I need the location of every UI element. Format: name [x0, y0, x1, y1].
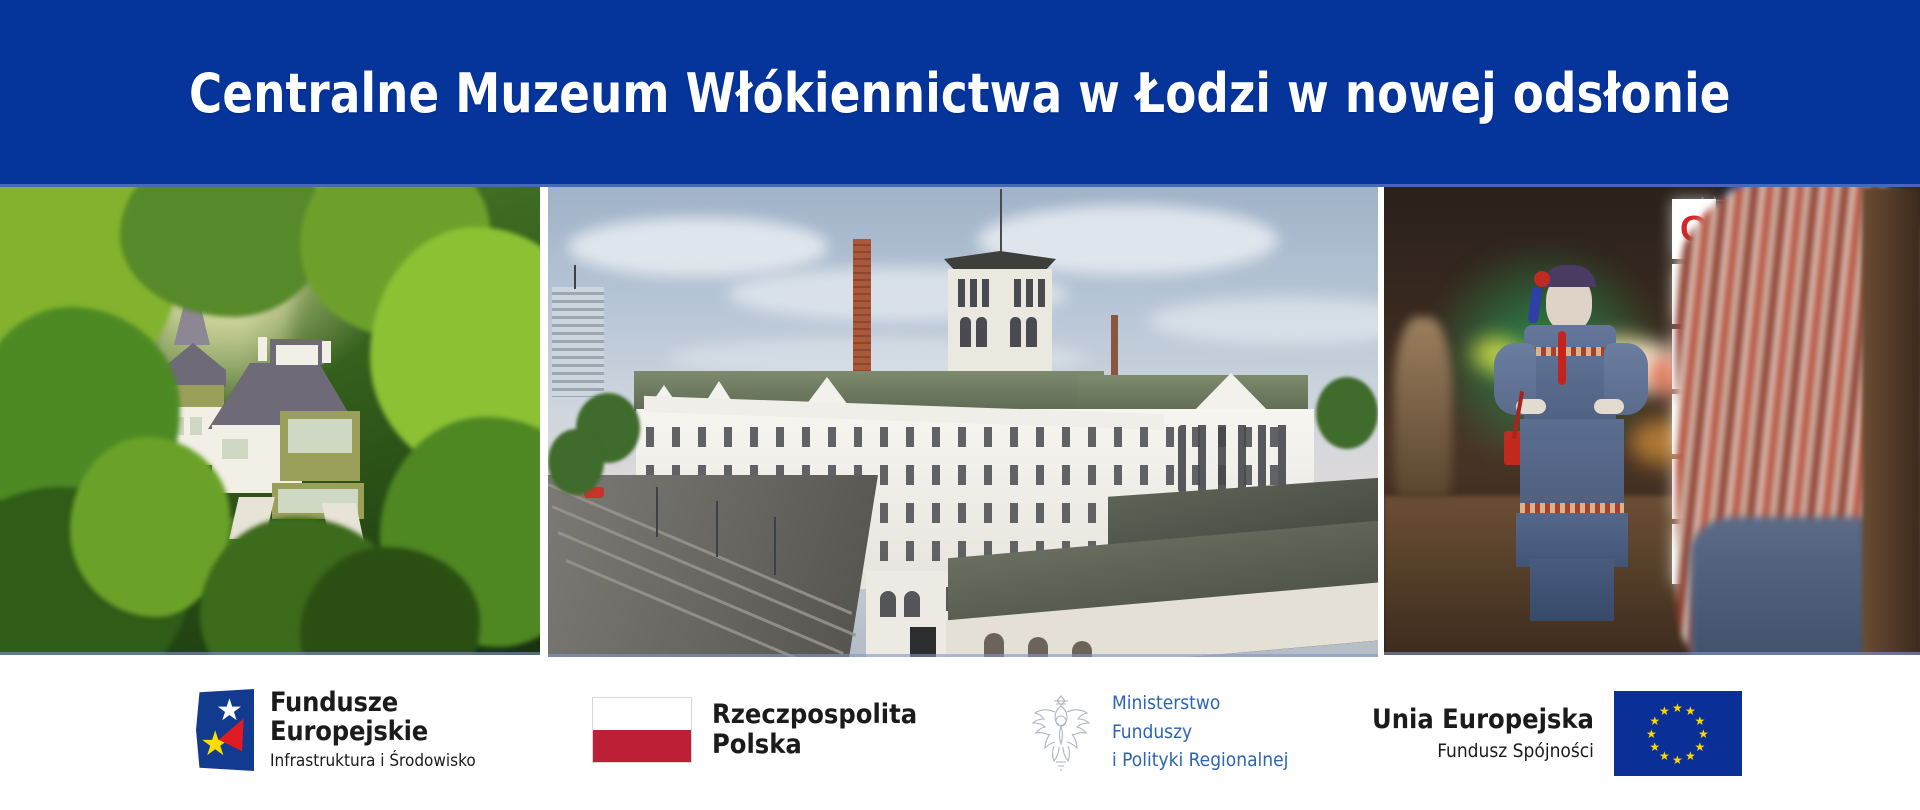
eu-star-icon: ★	[1659, 750, 1670, 762]
factory-roof-right	[1078, 375, 1308, 413]
background-mannequin	[1394, 317, 1452, 497]
polish-flag-icon	[592, 697, 692, 763]
logo-line-1: Fundusze	[270, 689, 476, 718]
logo-line-2: Europejskie	[270, 718, 476, 747]
tower-window	[960, 317, 971, 347]
annex-window	[880, 591, 896, 617]
logo-line-2: Polska	[712, 730, 917, 760]
villa-dormer	[276, 345, 318, 365]
fundusze-europejskie-text: Fundusze Europejskie Infrastruktura i Śr…	[270, 689, 476, 770]
tower-mast	[1000, 189, 1002, 253]
eu-star-icon: ★	[1672, 702, 1683, 714]
cloud	[568, 217, 828, 277]
wooden-pillar	[1862, 187, 1920, 655]
unia-europejska-text: Unia Europejska Fundusz Spójności	[1372, 705, 1594, 762]
banner-page: Centralne Muzeum Włókiennictwa w Łodzi w…	[0, 0, 1920, 810]
logo-line-1: Unia Europejska	[1372, 705, 1594, 735]
tower-window	[970, 279, 977, 307]
street-lamp	[774, 517, 776, 575]
logo-ministerstwo-funduszy: Ministerstwo Funduszy i Polityki Regiona…	[1026, 689, 1288, 775]
tower-window	[1010, 317, 1021, 347]
photo-edge	[548, 654, 1378, 657]
logo-unia-europejska: Unia Europejska Fundusz Spójności ★★★★★★…	[1372, 691, 1742, 776]
logo-line-1: Ministerstwo	[1112, 689, 1288, 718]
villa-veranda-glass	[288, 419, 352, 453]
flag-white-band	[593, 698, 691, 730]
tower-window	[1026, 317, 1037, 347]
necklace	[1558, 331, 1566, 385]
banner-header: Centralne Muzeum Włókiennictwa w Łodzi w…	[0, 0, 1920, 187]
flower-accessory	[1534, 271, 1550, 287]
tower-window	[958, 279, 965, 307]
eu-star-icon: ★	[1694, 715, 1705, 727]
annex-window	[904, 591, 920, 617]
photo-exhibition-mannequins: O D Z I E Ż	[1384, 187, 1920, 655]
headband	[1542, 265, 1596, 287]
villa-window	[222, 439, 248, 459]
skirt-trim	[1520, 503, 1624, 513]
ministerstwo-text: Ministerstwo Funduszy i Polityki Regiona…	[1112, 689, 1288, 775]
tower-window	[982, 279, 989, 307]
arcade-windows	[1178, 425, 1298, 493]
logo-rzeczpospolita-polska: Rzeczpospolita Polska	[592, 697, 917, 763]
antenna	[574, 265, 576, 289]
factory-chimney-far	[1111, 315, 1118, 377]
photo-edge	[1384, 652, 1920, 655]
street	[548, 475, 878, 657]
underskirt	[1530, 559, 1614, 621]
photo-edge	[0, 652, 540, 655]
ribbon	[1528, 286, 1543, 323]
eu-flag-icon: ★★★★★★★★★★★★	[1614, 691, 1742, 776]
tower-window	[976, 317, 987, 347]
tower-window	[1014, 279, 1021, 307]
flag-red-band	[593, 730, 691, 762]
photo-white-factory-museum	[548, 187, 1378, 657]
eu-star-icon: ★	[1649, 741, 1660, 753]
photo-strip: O D Z I E Ż	[0, 187, 1920, 659]
street-tree	[1316, 377, 1378, 449]
eu-star-icon: ★	[1646, 728, 1657, 740]
villa-chimney	[322, 341, 331, 363]
dress-trim	[1526, 347, 1614, 356]
logo-fundusze-europejskie: ★ ★ Fundusze Europejskie Infrastruktura …	[196, 689, 476, 771]
eu-star-icon: ★	[1698, 728, 1709, 740]
logo-line-3: Infrastruktura i Środowisko	[270, 751, 476, 771]
page-title: Centralne Muzeum Włókiennictwa w Łodzi w…	[189, 62, 1731, 125]
villa-window	[190, 417, 202, 435]
funding-logo-bar: ★ ★ Fundusze Europejskie Infrastruktura …	[0, 659, 1920, 810]
tower-window	[1026, 279, 1033, 307]
fundusze-europejskie-mark: ★ ★	[196, 689, 254, 771]
street-tree	[548, 429, 604, 495]
eu-star-icon: ★	[1672, 754, 1683, 766]
rzeczpospolita-text: Rzeczpospolita Polska	[712, 700, 917, 760]
photo-wooden-villa-park	[0, 187, 540, 655]
eu-star-icon: ★	[1659, 705, 1670, 717]
eu-star-icon: ★	[1685, 750, 1696, 762]
villa-chimney	[258, 337, 267, 361]
logo-line-1: Rzeczpospolita	[712, 700, 917, 730]
street-lamp	[656, 487, 658, 537]
factory-chimney	[853, 239, 871, 374]
hand-right	[1594, 399, 1624, 414]
tower-window	[1038, 279, 1045, 307]
street-lamp	[716, 501, 718, 557]
main-mannequin	[1472, 259, 1682, 655]
logo-line-3: i Polityki Regionalnej	[1112, 746, 1288, 775]
eu-star-icon: ★	[1694, 741, 1705, 753]
highrise-building	[552, 287, 604, 397]
logo-line-2: Funduszy	[1112, 718, 1288, 747]
entrance-gate	[910, 627, 936, 657]
logo-line-2: Fundusz Spójności	[1372, 740, 1594, 762]
polish-eagle-icon	[1026, 690, 1096, 774]
